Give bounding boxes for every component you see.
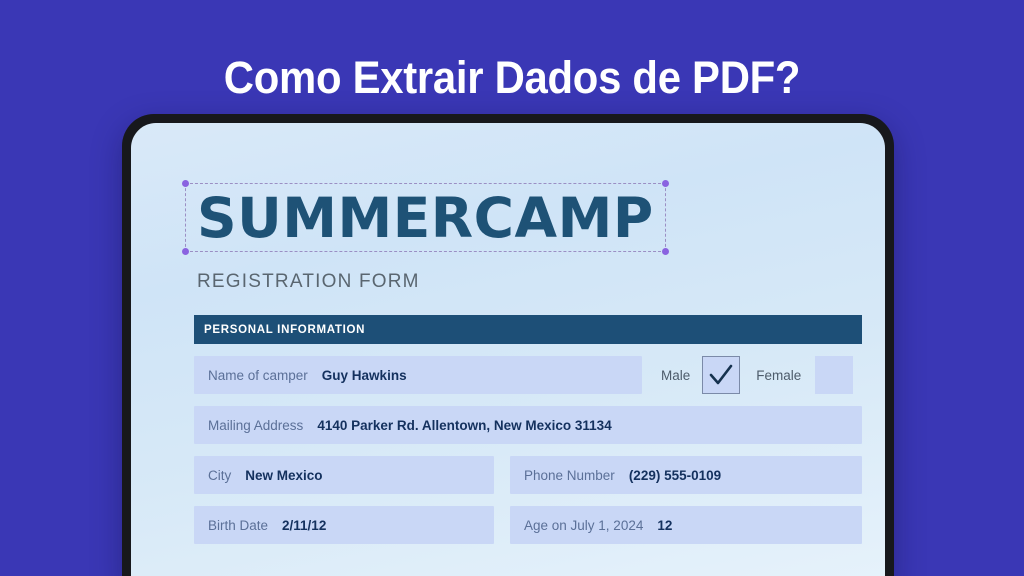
checkmark-icon xyxy=(708,363,734,387)
field-value: New Mexico xyxy=(245,468,322,483)
selection-handle-top-left[interactable] xyxy=(182,180,189,187)
field-value: (229) 555-0109 xyxy=(629,468,721,483)
field-city[interactable]: City New Mexico xyxy=(194,456,494,494)
page-title: Como Extrair Dados de PDF? xyxy=(36,52,988,104)
logo-selection-group[interactable]: SUMMERCAMP xyxy=(185,183,666,252)
checkbox-female[interactable] xyxy=(815,356,853,394)
form-row-city-phone: City New Mexico Phone Number (229) 555-0… xyxy=(194,456,862,494)
form-subtitle: REGISTRATION FORM xyxy=(197,271,847,293)
gender-male-label: Male xyxy=(661,368,690,383)
field-value: 12 xyxy=(657,518,672,533)
field-name-of-camper[interactable]: Name of camper Guy Hawkins xyxy=(194,356,642,394)
field-value: Guy Hawkins xyxy=(322,368,407,383)
field-label: City xyxy=(208,468,231,483)
section-header-label: PERSONAL INFORMATION xyxy=(204,324,365,336)
section-header-personal-information: PERSONAL INFORMATION xyxy=(194,315,862,344)
summercamp-logo: SUMMERCAMP xyxy=(197,191,654,246)
device-mockup: SUMMERCAMP REGISTRATION FORM PERSONAL IN… xyxy=(122,114,894,576)
field-birth-date[interactable]: Birth Date 2/11/12 xyxy=(194,506,494,544)
device-screen: SUMMERCAMP REGISTRATION FORM PERSONAL IN… xyxy=(131,123,885,576)
field-phone-number[interactable]: Phone Number (229) 555-0109 xyxy=(510,456,862,494)
registration-form-document: SUMMERCAMP REGISTRATION FORM PERSONAL IN… xyxy=(131,123,885,576)
poster-canvas: Como Extrair Dados de PDF? SUMMERCAMP RE… xyxy=(0,0,1024,576)
field-age-on-july-1-2024[interactable]: Age on July 1, 2024 12 xyxy=(510,506,862,544)
gender-selection: Male Female xyxy=(661,356,853,394)
field-label: Name of camper xyxy=(208,368,308,383)
selection-handle-bottom-right[interactable] xyxy=(662,248,669,255)
selection-handle-bottom-left[interactable] xyxy=(182,248,189,255)
field-value: 4140 Parker Rd. Allentown, New Mexico 31… xyxy=(317,418,611,433)
form-row-name-gender: Name of camper Guy Hawkins Male F xyxy=(194,356,862,394)
field-value: 2/11/12 xyxy=(282,518,326,533)
field-label: Mailing Address xyxy=(208,418,303,433)
selection-handle-top-right[interactable] xyxy=(662,180,669,187)
form-row-address: Mailing Address 4140 Parker Rd. Allentow… xyxy=(194,406,862,444)
field-label: Age on July 1, 2024 xyxy=(524,518,643,533)
gender-female-label: Female xyxy=(756,368,801,383)
form-row-birth-age: Birth Date 2/11/12 Age on July 1, 2024 1… xyxy=(194,506,862,544)
field-mailing-address[interactable]: Mailing Address 4140 Parker Rd. Allentow… xyxy=(194,406,862,444)
checkbox-male[interactable] xyxy=(702,356,740,394)
field-label: Phone Number xyxy=(524,468,615,483)
field-label: Birth Date xyxy=(208,518,268,533)
